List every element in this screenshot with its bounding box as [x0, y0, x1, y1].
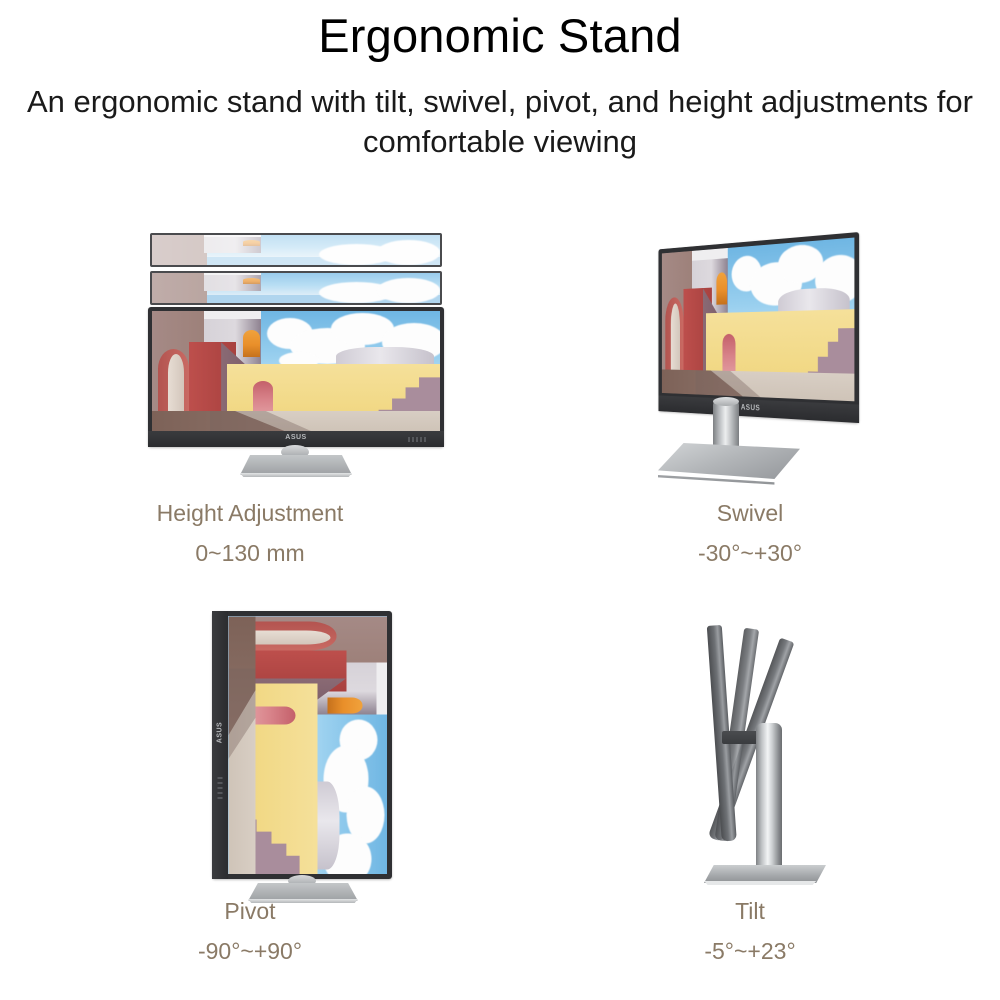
- feature-name: Height Adjustment: [0, 497, 500, 529]
- ergonomic-stand-infographic: Ergonomic Stand An ergonomic stand with …: [0, 0, 1000, 1000]
- height-ghost-position-top: [150, 233, 442, 267]
- monitor-screen: [662, 238, 855, 402]
- caption-tilt: Tilt -5°~+23°: [500, 895, 1000, 967]
- swivel-illustration: ASUS: [500, 205, 1000, 495]
- asus-logo: ASUS: [217, 722, 224, 743]
- swivel-pillar-top: [713, 397, 739, 406]
- feature-value: -30°~+30°: [500, 537, 1000, 569]
- wallpaper-architecture: [152, 311, 440, 431]
- page-subtitle: An ergonomic stand with tilt, swivel, pi…: [0, 82, 1000, 162]
- monitor-screen: [152, 311, 440, 431]
- asus-logo: ASUS: [741, 403, 760, 412]
- wallpaper-rotated-wrapper: [228, 616, 387, 874]
- wallpaper-architecture: [662, 238, 855, 402]
- feature-name: Pivot: [0, 895, 500, 927]
- monitor-body: ASUS: [658, 232, 859, 423]
- header: Ergonomic Stand An ergonomic stand with …: [0, 0, 1000, 162]
- monitor-body-portrait: ASUS: [212, 611, 392, 879]
- caption-pivot: Pivot -90°~+90°: [0, 895, 500, 967]
- monitor-side-bezel: ASUS: [212, 611, 228, 879]
- stand-base: [240, 455, 352, 475]
- asus-logo: ASUS: [285, 434, 306, 441]
- monitor-screen: [228, 616, 387, 874]
- feature-card-height-adjustment: ASUS Height Adjustment 0~130 mm: [0, 205, 500, 603]
- height-ghost-position-middle: [150, 271, 442, 305]
- feature-grid: ASUS Height Adjustment 0~130 mm: [0, 205, 1000, 1000]
- feature-value: 0~130 mm: [0, 537, 500, 569]
- bezel-indicator-dots: [408, 437, 426, 442]
- feature-card-pivot: ASUS Pivot -90°~+90°: [0, 603, 500, 1000]
- height-adjustment-illustration: ASUS: [0, 205, 500, 495]
- pivot-illustration: ASUS: [0, 603, 500, 893]
- bezel-indicator-dots: [218, 777, 223, 799]
- monitor-swivel-perspective-wrapper: ASUS: [658, 232, 859, 458]
- tilt-illustration: [500, 603, 1000, 893]
- tilt-base: [704, 865, 826, 883]
- tilt-base-edge: [704, 881, 826, 885]
- wallpaper-architecture: [228, 616, 387, 874]
- feature-card-tilt: Tilt -5°~+23°: [500, 603, 1000, 1000]
- monitor-body: ASUS: [148, 307, 444, 447]
- caption-height-adjustment: Height Adjustment 0~130 mm: [0, 497, 500, 569]
- tilt-column: [756, 723, 782, 873]
- feature-name: Tilt: [500, 895, 1000, 927]
- feature-value: -5°~+23°: [500, 935, 1000, 967]
- stand-base-edge: [240, 473, 352, 477]
- feature-name: Swivel: [500, 497, 1000, 529]
- page-title: Ergonomic Stand: [0, 0, 1000, 66]
- caption-swivel: Swivel -30°~+30°: [500, 497, 1000, 569]
- swivel-base: [658, 443, 800, 479]
- feature-card-swivel: ASUS Swivel -30°~+30°: [500, 205, 1000, 603]
- feature-value: -90°~+90°: [0, 935, 500, 967]
